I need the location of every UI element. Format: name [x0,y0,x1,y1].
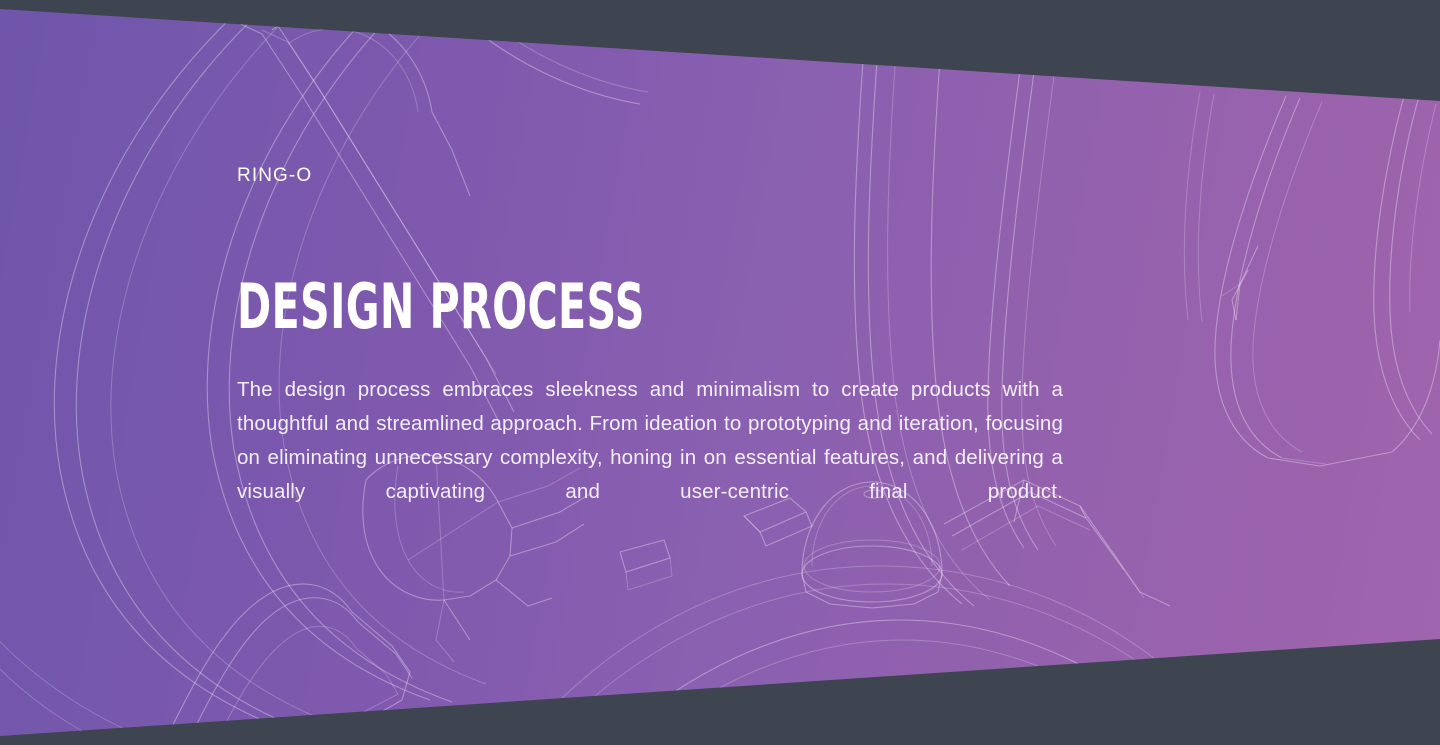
eyebrow-label: RING-O [237,164,312,188]
description-paragraph: The design process embraces sleekness an… [237,373,1063,543]
page-title: DESIGN PROCESS [237,274,645,340]
design-process-slide: RING-O DESIGN PROCESS The design process… [0,0,1440,745]
